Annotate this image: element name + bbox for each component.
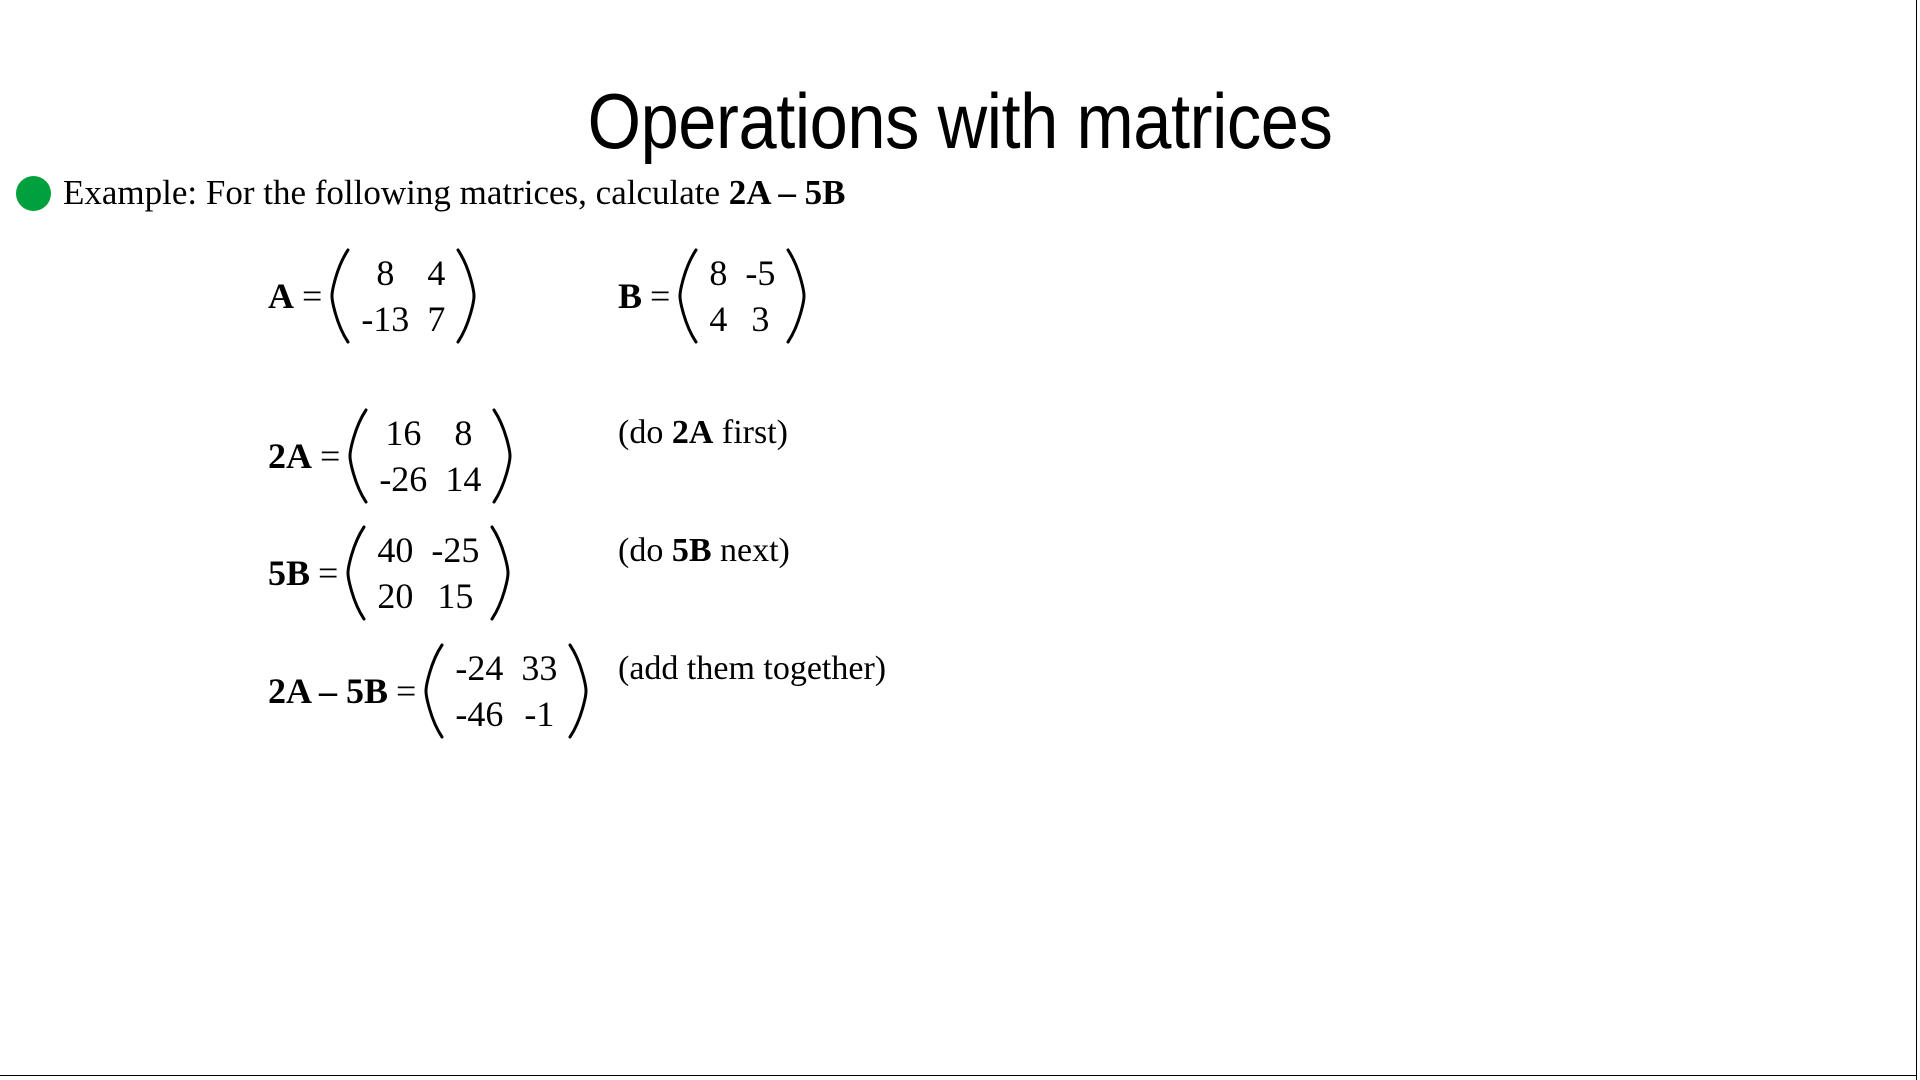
matrix-a: 8 4 -13 7 <box>328 248 478 344</box>
bullet-text-plain: Example: For the following matrices, cal… <box>63 173 729 212</box>
matrix-b-body: 8 -5 4 3 <box>698 250 786 342</box>
matrix-cell: 8 <box>700 250 736 296</box>
bullet-dot-icon <box>16 176 51 211</box>
note-bold: 2A <box>672 414 714 451</box>
matrix-row: 8 4 <box>352 250 454 296</box>
matrix-b: 8 -5 4 3 <box>676 248 808 344</box>
left-paren-icon <box>328 248 350 344</box>
matrix-a-label: A <box>268 275 294 317</box>
matrix-cell: -46 <box>446 691 512 737</box>
matrix-cell: 4 <box>700 296 736 342</box>
matrix-a-equals: = <box>294 275 328 317</box>
bullet-text-bold: 2A – 5B <box>729 173 846 212</box>
matrix-5b-body: 40 -25 20 15 <box>366 527 490 619</box>
equation-row-b: B = 8 -5 4 3 <box>618 248 808 344</box>
left-paren-icon <box>676 248 698 344</box>
matrix-cell: 15 <box>422 573 488 619</box>
equation-row-5b: 5B = 40 -25 20 15 <box>268 525 512 621</box>
matrix-row: -46 -1 <box>446 691 566 737</box>
slide-right-edge <box>1916 0 1920 1080</box>
right-paren-icon <box>568 643 590 739</box>
equation-row-a: A = 8 4 -13 7 <box>268 248 478 344</box>
matrix-2a-body: 16 8 -26 14 <box>368 410 492 502</box>
matrix-row: -26 14 <box>370 456 490 502</box>
matrix-cell: -1 <box>512 691 566 737</box>
slide-canvas: Operations with matrices Example: For th… <box>0 0 1920 1080</box>
equation-row-result: 2A – 5B = -24 33 -46 -1 <box>268 643 590 739</box>
note-suffix: first) <box>713 414 788 451</box>
matrix-cell: -26 <box>370 456 436 502</box>
matrix-b-label: B <box>618 275 642 317</box>
matrix-cell: 20 <box>368 573 422 619</box>
page-title: Operations with matrices <box>115 78 1805 164</box>
matrix-cell: 40 <box>368 527 422 573</box>
right-paren-icon <box>492 408 514 504</box>
matrix-cell: 33 <box>512 645 566 691</box>
note-prefix: (do <box>618 414 672 451</box>
matrix-row: 20 15 <box>368 573 488 619</box>
matrix-2a-label: 2A <box>268 435 312 477</box>
matrix-row: -13 7 <box>352 296 454 342</box>
matrix-cell: -24 <box>446 645 512 691</box>
matrix-cell: 16 <box>370 410 436 456</box>
matrix-cell: -5 <box>736 250 784 296</box>
note-prefix: (do <box>618 532 672 569</box>
matrix-cell: 7 <box>418 296 454 342</box>
matrix-cell: 3 <box>736 296 784 342</box>
matrix-cell: 8 <box>352 250 418 296</box>
bullet-text: Example: For the following matrices, cal… <box>63 172 845 214</box>
matrix-b-equals: = <box>642 275 676 317</box>
matrix-5b: 40 -25 20 15 <box>344 525 512 621</box>
matrix-cell: -13 <box>352 296 418 342</box>
note-suffix: next) <box>712 532 790 569</box>
bullet-line: Example: For the following matrices, cal… <box>16 172 845 214</box>
note-result: (add them together) <box>618 648 886 690</box>
note-2a: (do 2A first) <box>618 412 788 454</box>
matrix-2a: 16 8 -26 14 <box>346 408 514 504</box>
matrix-result-equals: = <box>388 670 422 712</box>
matrix-5b-equals: = <box>310 552 344 594</box>
right-paren-icon <box>490 525 512 621</box>
left-paren-icon <box>344 525 366 621</box>
matrix-result-body: -24 33 -46 -1 <box>444 645 568 737</box>
matrix-cell: 8 <box>436 410 490 456</box>
matrix-row: 4 3 <box>700 296 784 342</box>
equation-row-2a: 2A = 16 8 -26 14 <box>268 408 514 504</box>
note-bold: 5B <box>672 532 712 569</box>
matrix-cell: -25 <box>422 527 488 573</box>
matrix-cell: 14 <box>436 456 490 502</box>
matrix-row: 40 -25 <box>368 527 488 573</box>
right-paren-icon <box>786 248 808 344</box>
left-paren-icon <box>346 408 368 504</box>
matrix-result: -24 33 -46 -1 <box>422 643 590 739</box>
matrix-a-body: 8 4 -13 7 <box>350 250 456 342</box>
matrix-row: 16 8 <box>370 410 490 456</box>
slide-bottom-edge <box>0 1075 1920 1080</box>
matrix-row: -24 33 <box>446 645 566 691</box>
matrix-5b-label: 5B <box>268 552 310 594</box>
matrix-row: 8 -5 <box>700 250 784 296</box>
matrix-result-label: 2A – 5B <box>268 670 388 712</box>
matrix-2a-equals: = <box>312 435 346 477</box>
note-5b: (do 5B next) <box>618 530 790 572</box>
matrix-cell: 4 <box>418 250 454 296</box>
left-paren-icon <box>422 643 444 739</box>
right-paren-icon <box>456 248 478 344</box>
